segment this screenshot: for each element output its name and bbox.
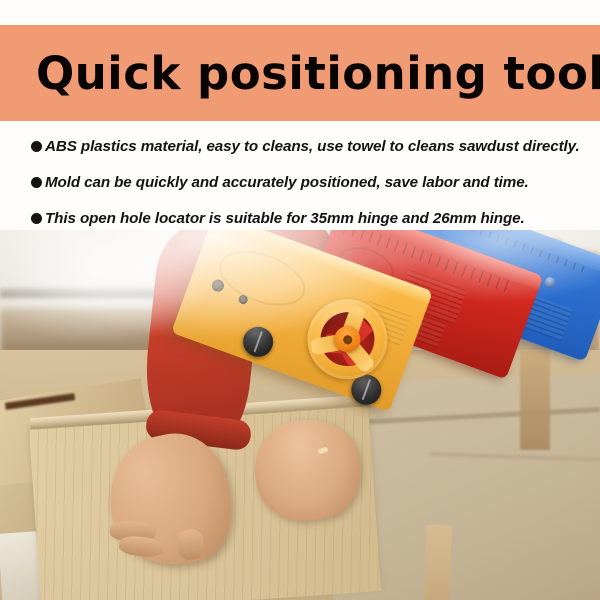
- title-band: Quick positioning tool: [0, 25, 600, 121]
- feature-list: ABS plastics material, easy to cleans, u…: [0, 121, 600, 230]
- background-shelf: [0, 308, 170, 354]
- bullet-dot-icon: [31, 177, 42, 188]
- feature-text: This open hole locator is suitable for 3…: [45, 210, 525, 227]
- adjustment-knob: [239, 323, 277, 361]
- product-photo: [0, 230, 600, 600]
- wood-post: [520, 350, 550, 450]
- thumb: [176, 528, 205, 561]
- bullet-dot-icon: [31, 141, 42, 152]
- list-item: ABS plastics material, easy to cleans, u…: [0, 128, 600, 164]
- jig-rivet: [543, 275, 557, 289]
- feature-text: ABS plastics material, easy to cleans, u…: [45, 138, 580, 155]
- list-item: Mold can be quickly and accurately posit…: [0, 164, 600, 200]
- page-title: Quick positioning tool: [36, 51, 600, 96]
- wood-strip: [423, 525, 452, 600]
- top-white-strip: [0, 0, 600, 25]
- feature-text: Mold can be quickly and accurately posit…: [45, 174, 529, 191]
- bullet-dot-icon: [31, 213, 42, 224]
- product-banner: Quick positioning tool ABS plastics mate…: [0, 0, 600, 600]
